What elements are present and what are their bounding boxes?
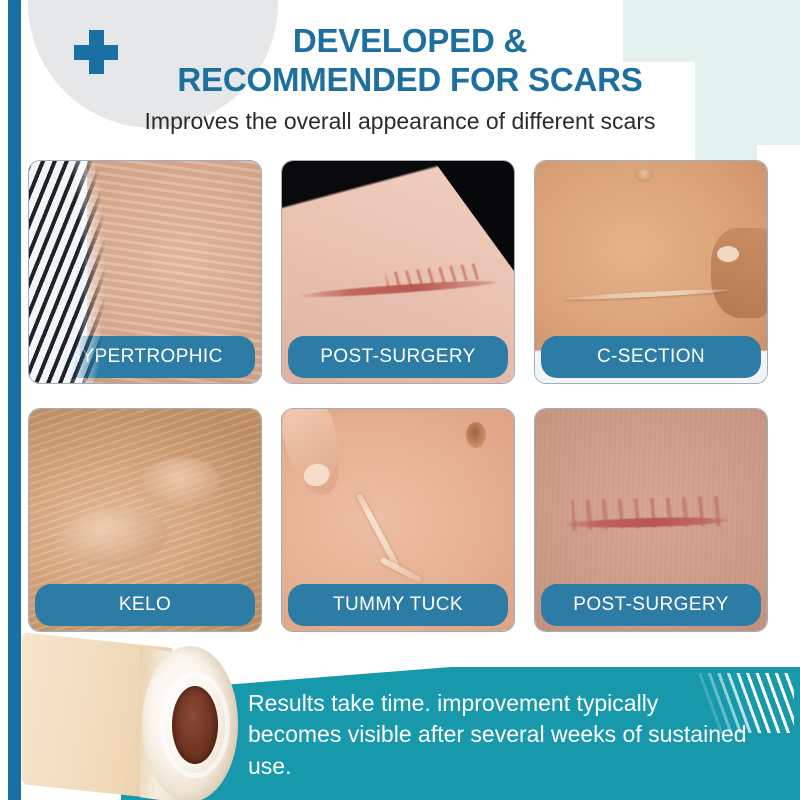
finger-feature bbox=[281, 408, 349, 501]
scar-line-lower bbox=[379, 556, 422, 583]
navel-feature bbox=[635, 168, 653, 182]
scar-line bbox=[563, 288, 730, 302]
card-label-tummy-tuck: TUMMY TUCK bbox=[288, 584, 508, 626]
card-label-post-surgery-1: POST-SURGERY bbox=[288, 336, 508, 378]
scar-line-upper bbox=[355, 492, 400, 569]
card-label-kelo: KELO bbox=[35, 584, 255, 626]
keloid-lump-2 bbox=[140, 458, 219, 506]
header: DEVELOPED & RECOMMENDED FOR SCARS Improv… bbox=[0, 0, 800, 150]
scar-card-post-surgery-1: POST-SURGERY bbox=[281, 160, 515, 384]
title-line-2: RECOMMENDED FOR SCARS bbox=[60, 61, 760, 100]
tape-roll-core bbox=[172, 686, 218, 764]
scar-card-hypertrophic: HYPERTROPHIC bbox=[28, 160, 262, 384]
infographic-page: DEVELOPED & RECOMMENDED FOR SCARS Improv… bbox=[0, 0, 800, 800]
scar-card-tummy-tuck: TUMMY TUCK bbox=[281, 408, 515, 632]
results-banner-text: Results take time. improvement typically… bbox=[248, 688, 758, 782]
scar-card-c-section: C-SECTION bbox=[534, 160, 768, 384]
navel-feature bbox=[466, 422, 486, 448]
silicone-scar-tape-roll bbox=[22, 648, 237, 800]
scar-type-grid: HYPERTROPHIC POST-SURGERY C-SECTION bbox=[28, 160, 772, 632]
page-title: DEVELOPED & RECOMMENDED FOR SCARS bbox=[60, 22, 760, 100]
page-subtitle: Improves the overall appearance of diffe… bbox=[40, 108, 760, 135]
hand-feature bbox=[711, 228, 768, 318]
scar-card-kelo: KELO bbox=[28, 408, 262, 632]
photo-dark-corner bbox=[434, 161, 514, 271]
title-line-1: DEVELOPED & bbox=[60, 22, 760, 61]
keloid-lump-1 bbox=[58, 500, 172, 572]
striped-fabric-region bbox=[29, 161, 121, 383]
card-label-post-surgery-2: POST-SURGERY bbox=[541, 584, 761, 626]
scar-card-post-surgery-2: POST-SURGERY bbox=[534, 408, 768, 632]
card-label-c-section: C-SECTION bbox=[541, 336, 761, 378]
